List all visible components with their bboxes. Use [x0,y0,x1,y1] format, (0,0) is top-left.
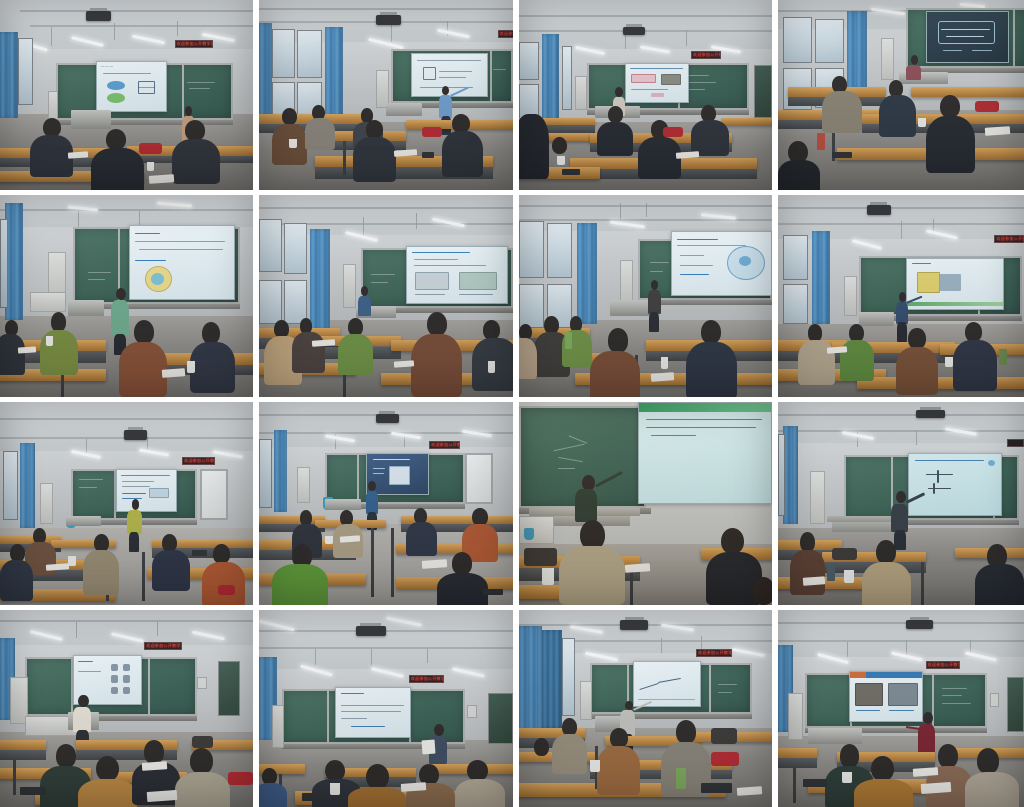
slide-graphic-blue [107,81,125,91]
attendee-head [190,748,213,774]
led-sign: 欢迎参加公开教学观摩 [409,675,445,683]
photo-grid: 欢迎参加公开教学观摩 — — — [0,0,1024,807]
photo-cell-1[interactable]: 欢迎参加公开教学观摩 — — — [0,0,253,190]
attendee-body [172,139,220,185]
attendee-head [185,120,205,141]
attendee-body [638,137,681,179]
classroom-photo-3: 欢迎参加公开教学观摩 [519,0,772,190]
projector [620,620,648,630]
attendee-head [608,328,628,352]
photo-cell-16[interactable]: 欢迎参加公开教学观摩 [778,610,1024,807]
presenter-body [575,489,598,521]
presenter-body [111,300,129,336]
attendee-body [953,340,997,391]
projection-screen: — — — [96,61,167,112]
projector [906,620,933,629]
led-sign-text: 欢迎参加公开教学观摩 [145,643,181,649]
attendee-body [305,118,335,150]
attendee-body [353,137,396,183]
attendee-body [597,746,640,795]
projection-screen [926,11,1010,62]
led-sign-text: 欢迎参加公开教学观摩 [995,236,1023,242]
window-curtain [542,34,560,121]
presenter-head [132,499,140,509]
window-curtain [542,630,562,729]
projection-screen [335,687,411,738]
projection-screen [411,53,487,97]
attendee-body [190,342,236,393]
window-curtain [519,626,542,732]
photo-cell-11[interactable] [519,402,772,605]
attendee-body [78,779,136,807]
projection-screen [638,402,772,504]
classroom-photo-1: 欢迎参加公开教学观摩 — — — [0,0,253,190]
projection-screen [906,258,1004,311]
projection-screen [633,661,701,706]
attendee-body [272,564,328,605]
projection-screen [406,246,508,305]
attendee-head [534,738,549,756]
led-sign [1007,439,1024,447]
led-sign-text: 欢迎参加公开教学观摩 [183,458,214,464]
attendee-body [822,91,861,133]
attendee-head [106,129,126,150]
slide-chart [149,488,169,499]
photo-cell-15[interactable]: 欢迎参加公开教学观摩 [519,610,772,807]
photo-cell-2[interactable]: 欢迎参加公开教学观摩 [259,0,513,190]
classroom-photo-13: 欢迎参加公开教学观摩 [0,610,253,807]
classroom-photo-10: 欢迎参加公开教学观摩 [259,402,513,605]
led-sign-text: 欢迎参加公开教学观摩 [927,662,959,668]
presenter-body [648,290,661,314]
attendee-body [83,550,118,595]
attendee-body [455,779,506,807]
presenter-head [911,55,918,65]
attendee-head [56,744,76,768]
attendee-head [144,740,164,764]
photo-cell-12[interactable] [778,402,1024,605]
led-sign-text: 欢迎参加公开教学观摩 [410,676,444,682]
slide-image-right [888,683,918,706]
attendee-body [686,342,737,397]
classroom-photo-12 [778,402,1024,605]
attendee-head [325,760,345,782]
slide-image [917,272,940,293]
slide-diagram-left [415,272,449,290]
attendee-body [0,560,33,601]
slide-table [631,74,656,84]
attendee-body [590,351,641,397]
attendee-body [30,135,73,177]
classroom-photo-15: 欢迎参加公开教学观摩 [519,610,772,807]
attendee-head [366,764,389,790]
attendee-head [366,120,384,139]
photo-cell-6[interactable] [259,195,513,397]
projection-screen [625,63,688,103]
photo-cell-14[interactable]: 欢迎参加公开教学观摩 [259,610,513,807]
slide-figure [389,466,410,486]
projection-screen [129,225,235,300]
classroom-photo-11 [519,402,772,605]
attendee-head [676,720,696,744]
attendee-head [871,756,893,782]
presenter-body [358,296,371,316]
photo-cell-4[interactable] [778,0,1024,190]
window-curtain [5,203,23,320]
photo-cell-10[interactable]: 欢迎参加公开教学观摩 [259,402,513,605]
whiteboard [200,469,228,520]
attendee-body [411,334,462,397]
attendee-head [908,328,925,348]
attendee-body [597,122,632,156]
projector [376,414,399,423]
attendee-head [483,320,501,340]
attendee-head [701,320,721,344]
attendee-head [938,744,958,768]
classroom-photo-5 [0,195,253,397]
attendee-head [977,748,999,774]
attendee-head [876,540,896,564]
projector [916,410,946,418]
photo-cell-3[interactable]: 欢迎参加公开教学观摩 [519,0,772,190]
led-sign-text: 欢迎参加公开教学观摩 [499,31,513,37]
attendee-body [259,783,287,807]
window-curtain [259,23,272,122]
slide-header-bar [639,403,771,412]
attendee-body [896,347,938,395]
attendee-head [452,552,472,574]
slide-diagram-right [459,272,497,290]
attendee-body [790,550,824,595]
led-sign: 欢迎参加公开教学观摩 [691,51,721,59]
classroom-photo-6 [259,195,513,397]
led-sign: 欢迎参加公开教学观摩 [429,441,459,449]
led-sign-text: 欢迎参加公开教学观摩 [430,442,458,448]
photo-cell-8[interactable]: 欢迎参加公开教学观摩 [778,195,1024,397]
attendee-head [965,322,982,342]
attendee-body [406,522,436,557]
projector [86,11,111,21]
attendee-head [608,106,623,123]
presenter-body [891,504,908,532]
attendee-head [552,137,567,154]
slide-network-diagram [938,21,995,44]
presenter-head [899,292,906,302]
presenter-head [625,701,633,711]
classroom-photo-7 [519,195,772,397]
attendee-body [175,772,231,807]
led-sign: 欢迎参加公开教学观摩 [926,661,960,669]
attendee-head [96,756,119,782]
presenter-body [906,65,921,80]
attendee-body [552,734,587,773]
presenter-body [896,302,908,324]
attendee-head [43,118,61,137]
window-curtain [812,231,829,324]
classroom-photo-14: 欢迎参加公开教学观摩 [259,610,513,807]
whiteboard [465,453,493,504]
projection-screen [671,231,772,296]
attendee-body [0,334,25,374]
attendee-head [427,312,447,336]
attendee-body [119,342,167,397]
attendee-body [152,550,190,591]
photo-cell-5[interactable] [0,195,253,397]
classroom-photo-8: 欢迎参加公开教学观摩 [778,195,1024,397]
attendee-head [51,312,66,332]
presenter-head [615,87,623,97]
presenter-head [78,695,88,707]
led-sign: 欢迎参加公开教学观摩 [696,649,731,657]
projection-screen [908,453,1001,516]
window-curtain [20,443,35,528]
led-sign-text: 欢迎参加公开教学观摩 [176,41,212,47]
attendee-head [721,528,744,554]
attendee-body [348,787,406,807]
projection-screen [849,671,923,722]
photo-cell-7[interactable] [519,195,772,397]
slide-graphic-green [107,93,125,103]
classroom-photo-9: 欢迎参加公开教学观摩 [0,402,253,605]
slide-image-left [855,683,884,706]
attendee-body [965,772,1019,807]
projector [376,15,401,25]
window-curtain [274,430,287,511]
attendee-body [338,334,374,374]
attendee-head [840,744,860,768]
attendee-body [437,573,488,605]
attendee-body [778,160,820,190]
attendee-body [854,779,913,807]
attendee-body [926,116,975,173]
attendee-head [467,760,487,782]
projector [356,626,386,636]
led-sign-text: 欢迎参加公开教学观摩 [692,52,720,58]
presenter-head [368,481,376,491]
attendee-head [610,728,628,748]
window-curtain [577,223,597,324]
led-sign: 欢迎参加公开教学观摩 [144,642,182,651]
presenter-head [185,106,193,116]
attendee-head [940,95,960,118]
led-sign-text: 欢迎参加公开教学观摩 [697,650,730,656]
attendee-body [879,95,916,137]
attendee-body [91,148,144,190]
attendee-body [202,562,245,605]
photo-cell-13[interactable]: 欢迎参加公开教学观摩 [0,610,253,807]
projection-screen [116,469,177,512]
led-sign: 欢迎参加公开教学观摩 [182,457,215,465]
window-curtain [0,32,18,118]
presenter-body [366,491,379,513]
attendee-body [519,338,537,378]
attendee-body [975,564,1024,605]
attendee-body [442,131,483,177]
slide-header-bar [850,672,922,678]
attendee-head [800,532,815,552]
slide-photo [661,74,682,85]
projector [124,430,147,439]
presenter-body [439,95,452,118]
classroom-photo-4 [778,0,1024,190]
attendee-body [559,546,625,605]
slide-title: — — — [101,64,113,68]
attendee-head [752,577,772,605]
classroom-photo-16: 欢迎参加公开教学观摩 [778,610,1024,807]
led-sign: 欢迎参加公开教学观摩 [498,30,513,38]
presenter-body [73,707,91,733]
attendee-head [213,544,231,564]
photo-cell-9[interactable]: 欢迎参加公开教学观摩 [0,402,253,605]
presenter-head [651,280,659,290]
attendee-head [134,320,154,344]
presenter-head [361,286,369,296]
attendee-head [282,108,297,125]
attendee-body [862,562,911,605]
led-sign: 欢迎参加公开教学观摩 [175,40,213,49]
led-sign-text [1008,440,1023,442]
window-curtain [310,229,330,330]
window-curtain [325,27,343,118]
classroom-photo-2: 欢迎参加公开教学观摩 [259,0,513,190]
projector [867,205,892,215]
attendee-body [519,114,549,179]
attendee-head [202,322,220,344]
presenter-body [127,510,142,534]
led-sign: 欢迎参加公开教学观摩 [994,235,1024,243]
attendee-body [292,332,325,372]
projector [623,27,646,36]
